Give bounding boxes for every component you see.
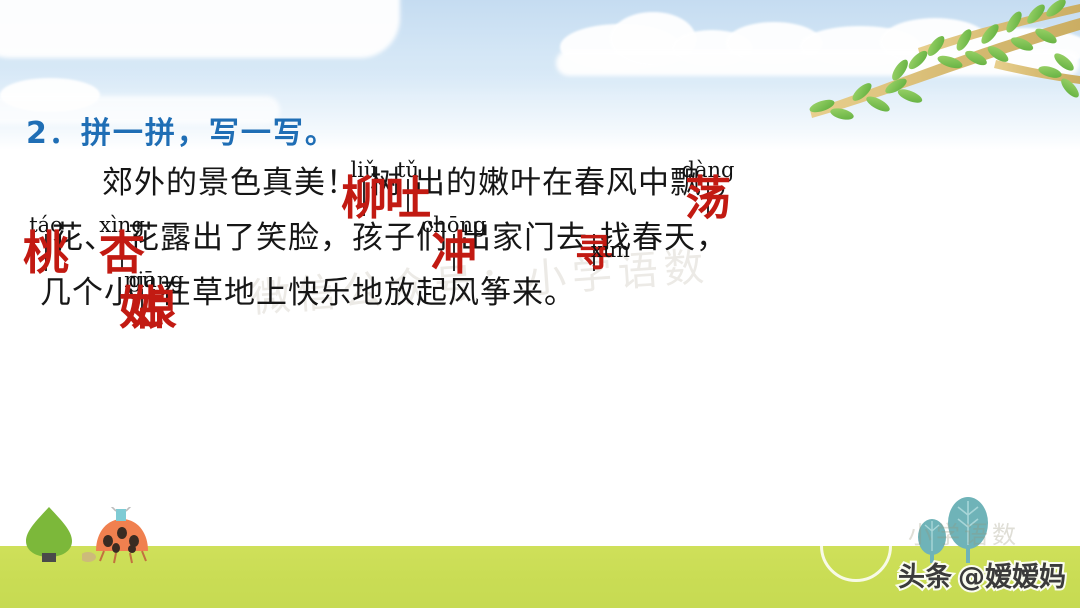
character-cell[interactable]: xìng杏 <box>121 237 123 268</box>
ladybug-decoration <box>82 507 158 570</box>
sentence-text: 出的嫩叶在春风中飘 <box>414 168 702 213</box>
character-cell[interactable]: xún寻 <box>593 237 595 268</box>
character-cell[interactable]: chōng冲 <box>453 237 455 268</box>
tianzige-box[interactable]: 杏 <box>121 234 123 271</box>
green-tree-decoration <box>18 503 80 570</box>
willow-branch-decoration <box>750 0 1080 120</box>
line-3: 几个小gū姑niang娘在草地上快乐地放起风筝来。 <box>40 278 1050 323</box>
tianzige-box[interactable]: 冲 <box>453 234 455 271</box>
tianzige-box[interactable]: 桃 <box>45 234 47 271</box>
character-cell[interactable]: liǔ柳 <box>363 182 365 213</box>
character-cell[interactable]: niang娘 <box>153 292 155 323</box>
teal-trees-decoration <box>902 493 998 570</box>
tianzige-box[interactable]: 柳 <box>363 179 365 216</box>
sentence-text: 花露出了笑脸，孩子们 <box>128 223 448 268</box>
tianzige-box[interactable]: 娘 <box>153 289 155 326</box>
sentence-text: 在草地上快乐地放起风筝来。 <box>160 278 576 323</box>
sentence-text: 郊外的景色真美！ <box>102 168 358 213</box>
character-cell[interactable]: táo桃 <box>45 237 47 268</box>
line-1: 郊外的景色真美！liǔ柳树tǔ吐出的嫩叶在春风中飘dàng荡， <box>40 168 1050 213</box>
slide-canvas: 2．拼一拼，写一写。 微信公众号：小学语数 郊外的景色真美！liǔ柳树tǔ吐出的… <box>0 0 1080 608</box>
tianzige-box[interactable]: 荡 <box>707 179 709 216</box>
character-cell[interactable]: tǔ吐 <box>407 182 409 213</box>
character-cell[interactable]: dàng荡 <box>707 182 709 213</box>
exercise-body: 郊外的景色真美！liǔ柳树tǔ吐出的嫩叶在春风中飘dàng荡，táo桃花、xìn… <box>40 168 1050 333</box>
pinyin-label: xún <box>591 239 630 261</box>
tianzige-box[interactable]: 吐 <box>407 179 409 216</box>
page-title: 2．拼一拼，写一写。 <box>26 108 337 152</box>
line-2: táo桃花、xìng杏花露出了笑脸，孩子们chōng冲出家门去xún寻找春天， <box>40 223 1050 268</box>
